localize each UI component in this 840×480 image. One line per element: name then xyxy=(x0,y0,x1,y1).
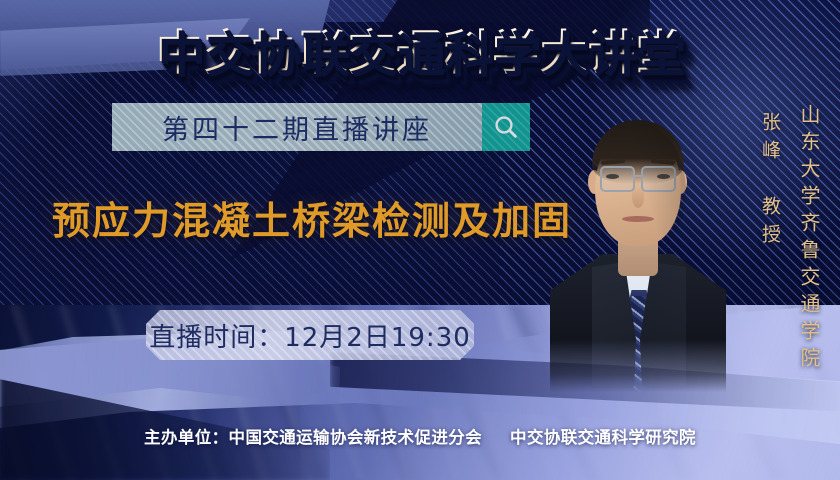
organizer-name-1: 中国交通运输协会新技术促进分会 xyxy=(229,428,483,447)
speaker-portrait-image xyxy=(548,104,728,392)
organizer-footer: 主办单位：中国交通运输协会新技术促进分会中交协联交通科学研究院 xyxy=(0,424,840,448)
search-icon xyxy=(493,114,519,140)
page-title: 中交协联交通科学大讲堂 xyxy=(0,14,840,83)
live-time-text: 直播时间：12月2日19:30 xyxy=(149,317,471,354)
lecture-poster: 中交协联交通科学大讲堂 第四十二期直播讲座 预应力混凝土桥梁检测及加固 直播时间… xyxy=(0,0,840,480)
speaker-name-title: 张峰 教授 xyxy=(757,112,784,252)
live-time-badge: 直播时间：12月2日19:30 xyxy=(146,310,474,360)
speaker-affiliation: 山东大学齐鲁交通学院 xyxy=(795,104,824,374)
search-button[interactable] xyxy=(482,103,530,151)
portrait-face-shading xyxy=(592,124,686,252)
session-banner: 第四十二期直播讲座 xyxy=(112,103,482,151)
organizer-prefix: 主办单位： xyxy=(144,428,229,447)
organizer-name-2: 中交协联交通科学研究院 xyxy=(510,428,696,447)
speaker-portrait xyxy=(548,104,728,392)
lecture-topic: 预应力混凝土桥梁检测及加固 xyxy=(52,190,572,245)
session-banner-label: 第四十二期直播讲座 xyxy=(162,108,432,147)
page-title-text: 中交协联交通科学大讲堂 xyxy=(156,26,684,81)
